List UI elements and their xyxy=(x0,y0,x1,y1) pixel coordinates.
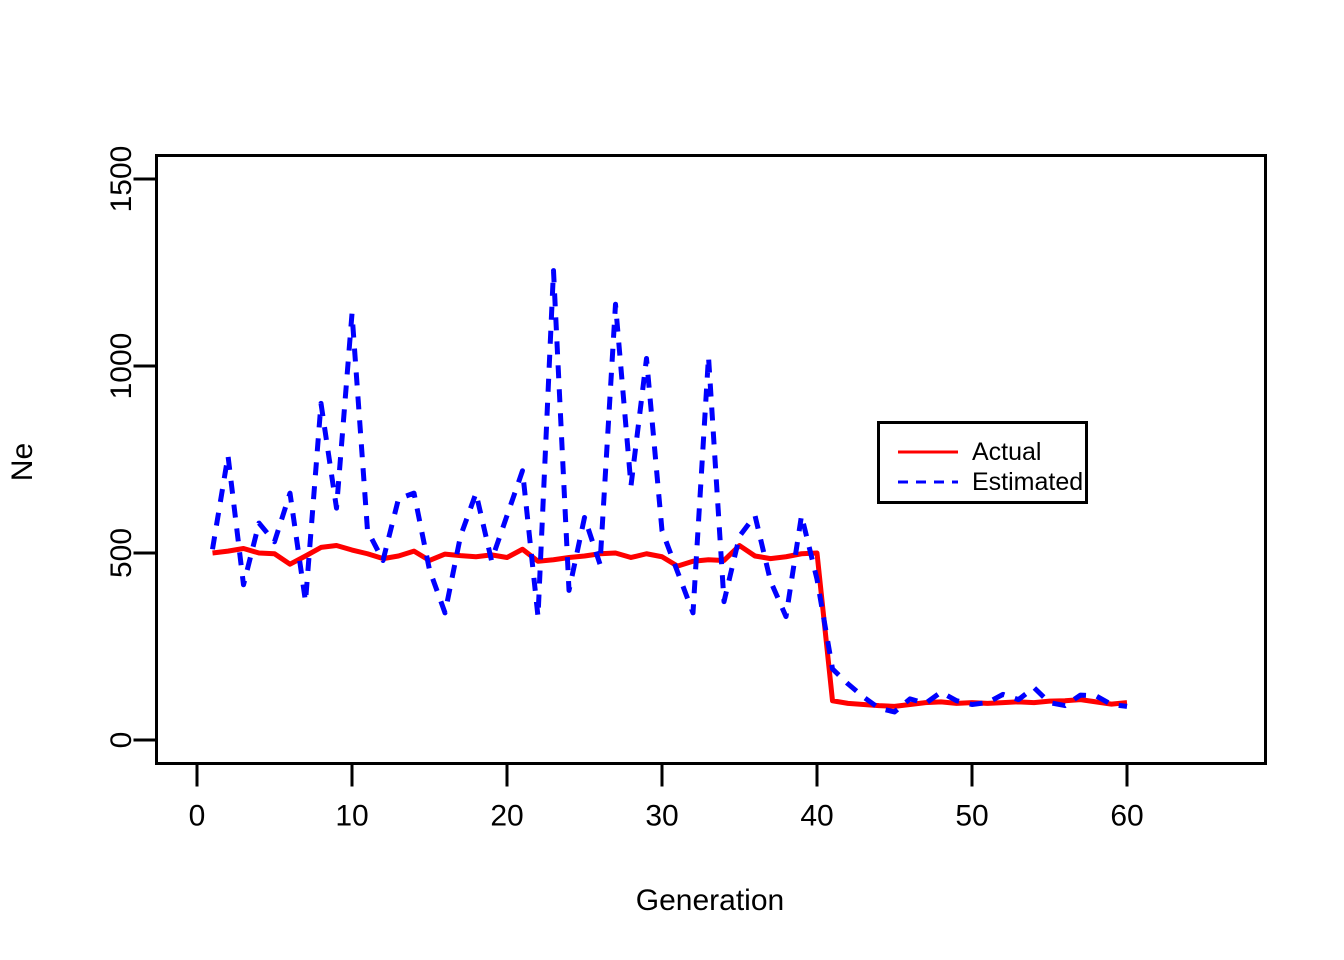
y-tick-label: 0 xyxy=(105,732,138,749)
legend-label-actual: Actual xyxy=(972,438,1041,466)
x-axis-ticks xyxy=(197,764,1127,787)
x-tick-label: 60 xyxy=(1110,800,1143,833)
y-tick-label: 1500 xyxy=(105,146,138,213)
legend-label-estimated: Estimated xyxy=(972,468,1083,496)
x-tick-label: 40 xyxy=(800,800,833,833)
y-tick-label: 500 xyxy=(105,528,138,578)
y-axis-ticks xyxy=(134,179,157,740)
y-axis-tick-labels: 050010001500 xyxy=(105,146,138,749)
y-tick-label: 1000 xyxy=(105,333,138,400)
x-tick-label: 10 xyxy=(335,800,368,833)
series-line-actual xyxy=(213,546,1128,707)
plot-canvas: 050010001500 0102030405060 Generation Ne… xyxy=(0,0,1344,960)
x-tick-label: 50 xyxy=(955,800,988,833)
x-tick-label: 30 xyxy=(645,800,678,833)
y-axis-title: Ne xyxy=(6,443,39,481)
chart-figure: 050010001500 0102030405060 Generation Ne… xyxy=(0,0,1344,960)
x-tick-label: 0 xyxy=(189,800,206,833)
x-axis-title: Generation xyxy=(636,884,784,917)
chart-legend: ActualEstimated xyxy=(879,423,1087,503)
x-tick-label: 20 xyxy=(490,800,523,833)
plot-panel-border xyxy=(157,156,1266,764)
x-axis-tick-labels: 0102030405060 xyxy=(189,800,1144,833)
